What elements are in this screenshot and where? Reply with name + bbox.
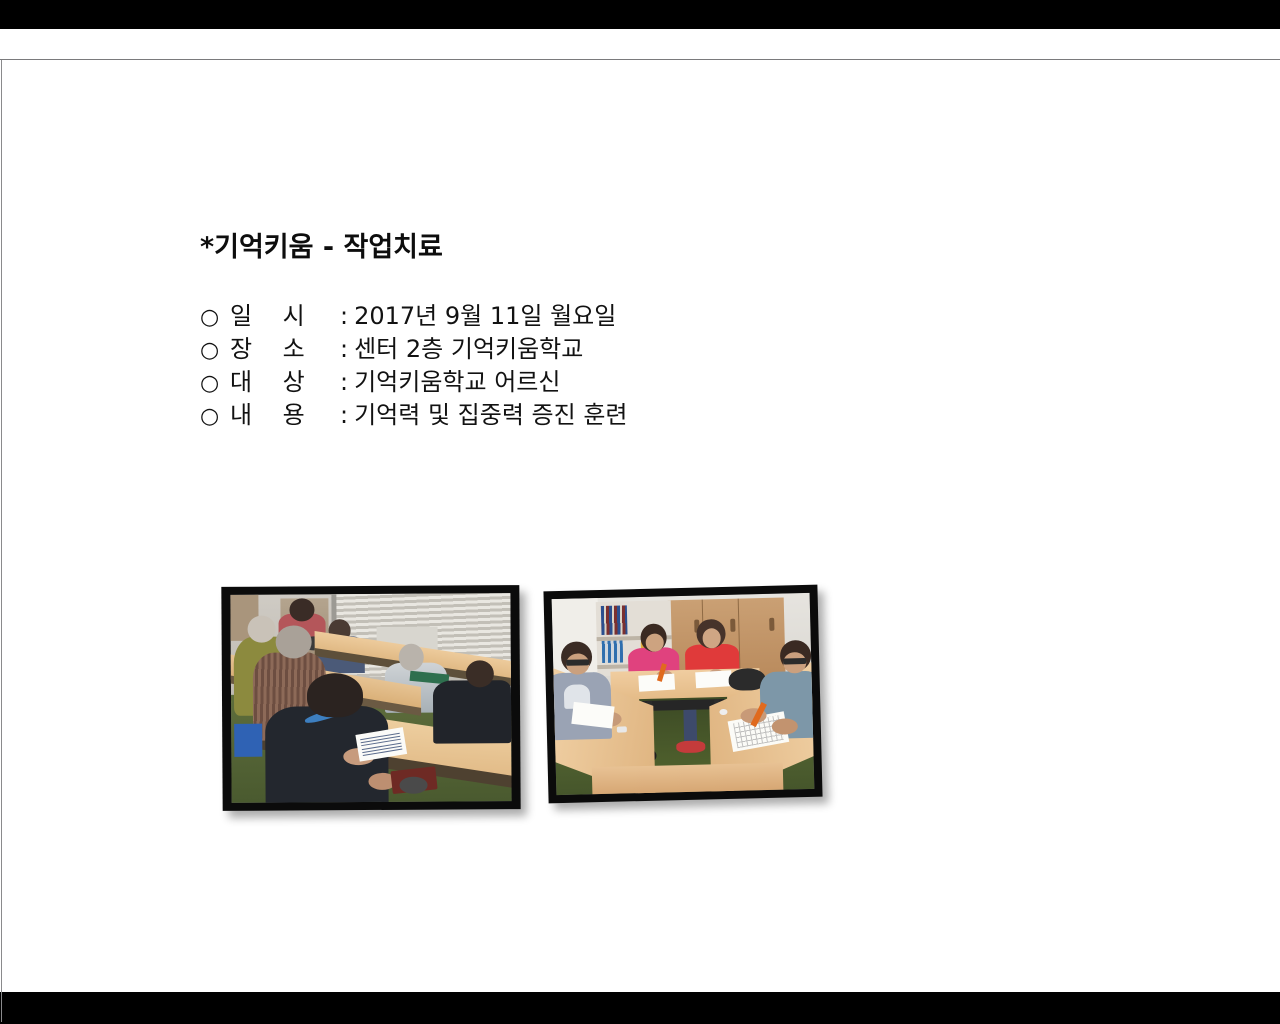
slide-root: *기억키움 - 작업치료 ○ 일 시 : 2017년 9월 11일 월요일 ○ …	[0, 0, 1280, 1024]
bullet-item-content: ○ 내 용 : 기억력 및 집중력 증진 훈련	[200, 399, 1000, 432]
bullet-separator-target: :	[340, 366, 354, 399]
bullet-list: ○ 일 시 : 2017년 9월 11일 월요일 ○ 장 소 : 센터 2층 기…	[200, 300, 1000, 432]
circle-bullet-icon: ○	[200, 367, 230, 400]
letterbox-bottom	[0, 992, 1280, 1024]
bullet-label-place: 장 소	[230, 333, 340, 366]
bullet-value-date: 2017년 9월 11일 월요일	[354, 300, 616, 333]
bullet-label-content: 내 용	[230, 399, 340, 432]
bullet-value-place: 센터 2층 기억키움학교	[354, 333, 583, 366]
photo-classroom-long-desks	[221, 585, 520, 811]
photo-group-tables	[543, 585, 822, 804]
bullet-label-date: 일 시	[230, 300, 340, 333]
bullet-item-date: ○ 일 시 : 2017년 9월 11일 월요일	[200, 300, 1000, 333]
bullet-separator-place: :	[340, 333, 354, 366]
circle-bullet-icon: ○	[200, 400, 230, 433]
photo-group-tables-image	[552, 593, 815, 795]
circle-bullet-icon: ○	[200, 301, 230, 334]
circle-bullet-icon: ○	[200, 334, 230, 367]
slide-top-edge	[0, 59, 1280, 60]
bullet-separator-content: :	[340, 399, 354, 432]
slide-title: *기억키움 - 작업치료	[200, 233, 443, 263]
slide-left-edge	[1, 60, 2, 1022]
bullet-separator-date: :	[340, 300, 354, 333]
letterbox-top	[0, 0, 1280, 29]
bullet-item-target: ○ 대 상 : 기억키움학교 어르신	[200, 366, 1000, 399]
bullet-label-target: 대 상	[230, 366, 340, 399]
photo-classroom-long-desks-image	[230, 593, 511, 803]
bullet-value-content: 기억력 및 집중력 증진 훈련	[354, 399, 627, 432]
bullet-value-target: 기억키움학교 어르신	[354, 366, 560, 399]
bullet-item-place: ○ 장 소 : 센터 2층 기억키움학교	[200, 333, 1000, 366]
slide-canvas: *기억키움 - 작업치료 ○ 일 시 : 2017년 9월 11일 월요일 ○ …	[0, 30, 1280, 992]
